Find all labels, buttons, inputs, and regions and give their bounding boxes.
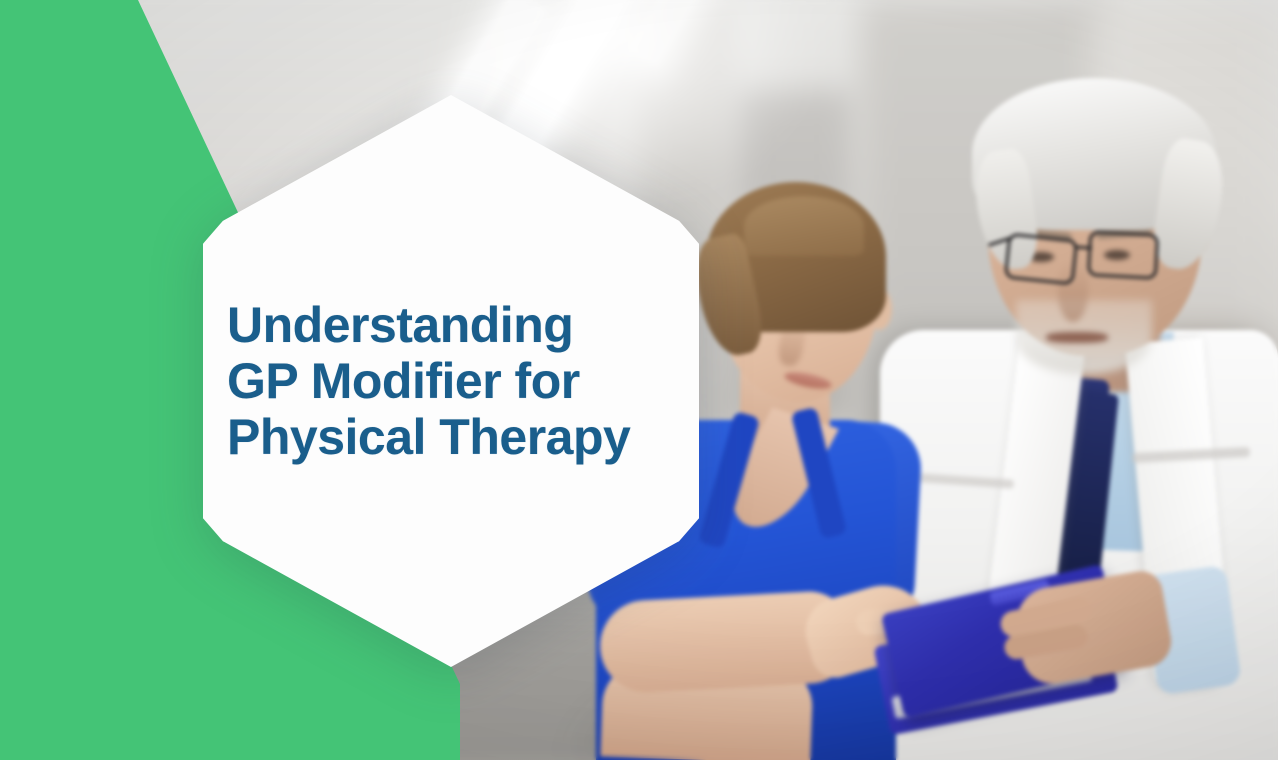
hexagon-title-card: Understanding GP Modifier for Physical T… (203, 95, 699, 667)
page-title: Understanding GP Modifier for Physical T… (227, 297, 630, 465)
article-hero-banner: Understanding GP Modifier for Physical T… (0, 0, 1278, 760)
hexagon-content: Understanding GP Modifier for Physical T… (203, 95, 699, 667)
